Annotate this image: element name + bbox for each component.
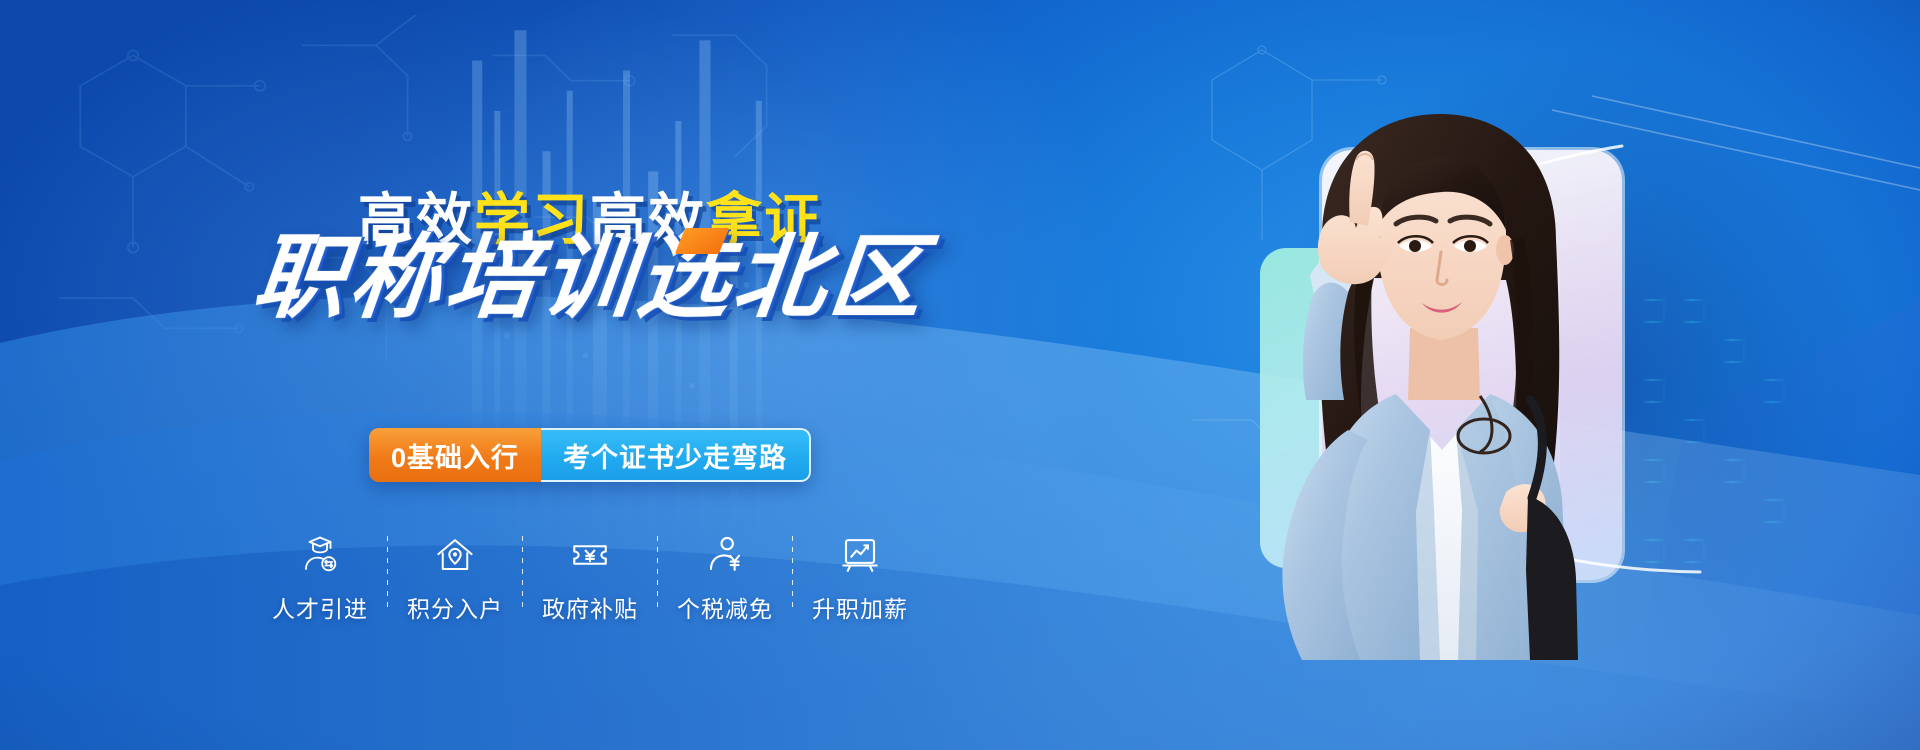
feature-label-promotion: 升职加薪 xyxy=(812,590,908,624)
feature-item-promotion[interactable]: 升职加薪 xyxy=(793,532,927,624)
feature-label-subsidy: 政府补贴 xyxy=(542,590,638,624)
feature-item-tax[interactable]: 个税减免 xyxy=(658,532,792,624)
badge-secondary-label: 考个证书少走弯路 xyxy=(541,428,811,482)
badge-primary-label: 0基础入行 xyxy=(369,428,541,482)
copy-block: 高效学习高效拿证 职称培训选北区 0基础入行 考个证书少走弯路 xyxy=(0,0,1180,750)
feature-item-subsidy[interactable]: 政府补贴 xyxy=(523,532,657,624)
feature-label-tax: 个税减免 xyxy=(677,590,773,624)
feature-item-hukou[interactable]: 积分入户 xyxy=(388,532,522,624)
graduate-person-icon xyxy=(299,532,341,578)
promo-banner: 高效学习高效拿证 职称培训选北区 0基础入行 考个证书少走弯路 xyxy=(0,0,1920,750)
house-pin-icon xyxy=(434,532,476,578)
voucher-yuan-icon xyxy=(569,532,611,578)
tagline-badge: 0基础入行 考个证书少走弯路 xyxy=(369,428,811,482)
feature-label-hukou: 积分入户 xyxy=(407,590,503,624)
chart-board-icon xyxy=(839,532,881,578)
feature-item-talent[interactable]: 人才引进 xyxy=(253,532,387,624)
person-photo xyxy=(1244,100,1644,660)
person-yuan-icon xyxy=(704,532,746,578)
feature-list: 人才引进 积分入户 xyxy=(0,532,1180,624)
headline-main-text: 职称培训选北区 xyxy=(249,232,931,324)
tagline-badge-row: 0基础入行 考个证书少走弯路 xyxy=(0,428,1180,482)
feature-label-talent: 人才引进 xyxy=(272,590,368,624)
headline-main: 职称培训选北区 xyxy=(0,232,1180,324)
